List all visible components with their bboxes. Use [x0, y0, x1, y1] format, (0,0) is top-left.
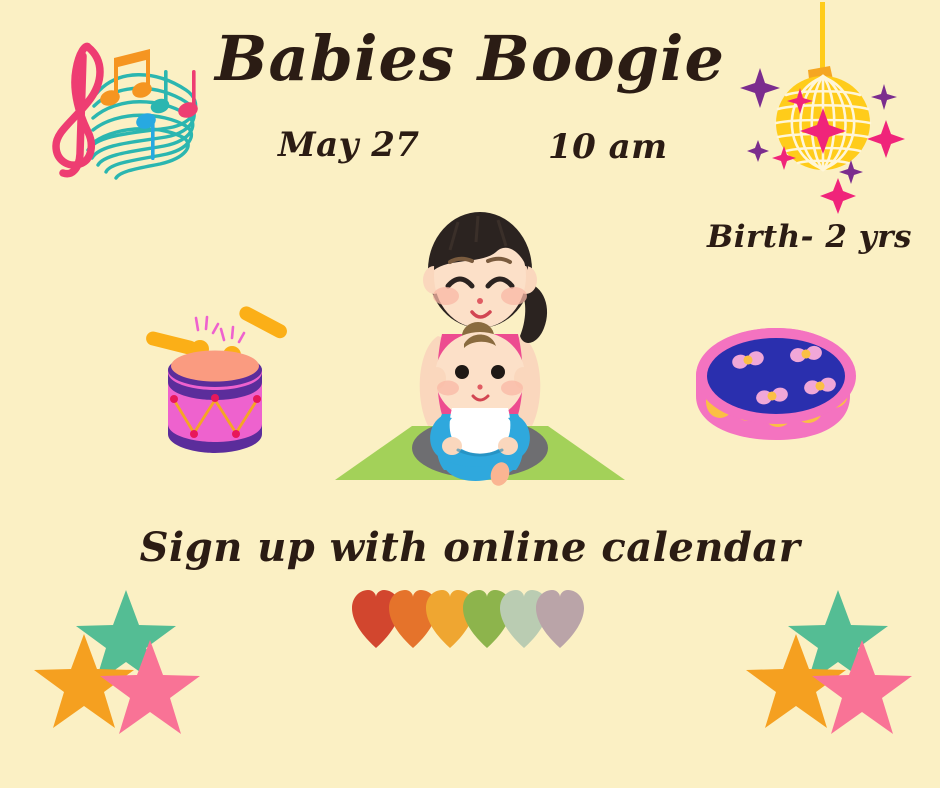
star-cluster-left: [38, 588, 203, 740]
age-range-label: Birth- 2 yrs: [707, 222, 912, 253]
page-title: Babies Boogie: [0, 28, 940, 90]
mother-and-baby-illustration: [330, 208, 630, 498]
signup-call-to-action: Sign up with online calendar: [0, 528, 940, 568]
tambourine-icon: [690, 318, 856, 446]
event-time: 10 am: [548, 130, 668, 164]
star-cluster-right: [750, 588, 915, 740]
drum-icon: [132, 308, 298, 460]
event-date: May 27: [278, 128, 420, 162]
rainbow-hearts-row: [352, 588, 584, 650]
flyer-canvas: Babies Boogie May 27 10 am Birth- 2 yrs …: [0, 0, 940, 788]
